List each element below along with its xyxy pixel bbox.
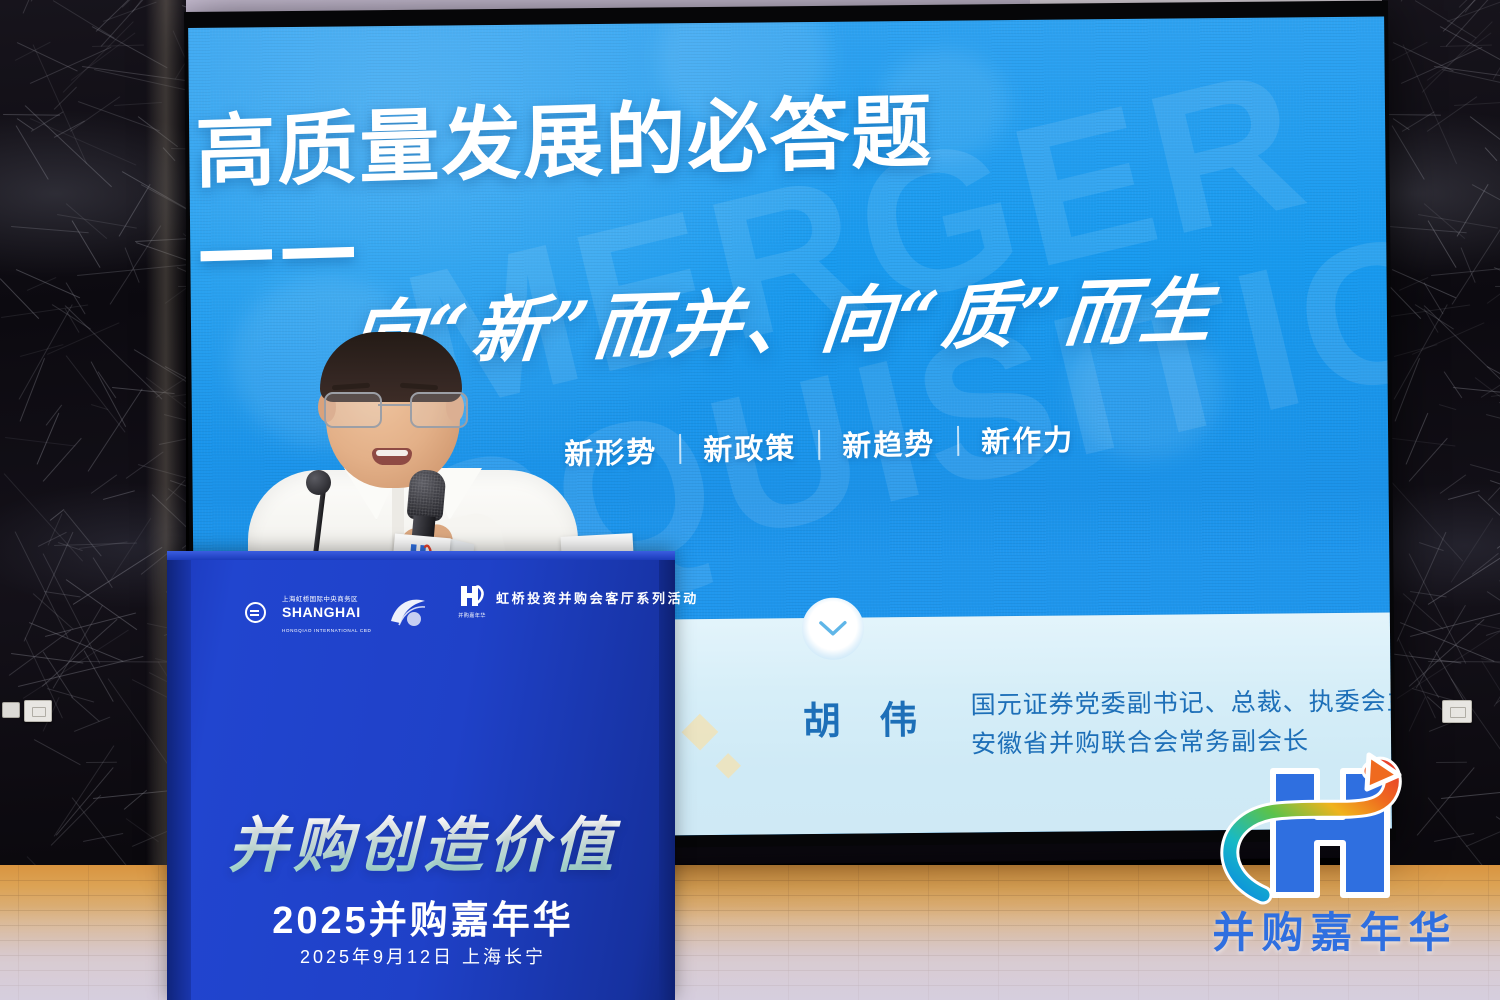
- tag-separator: [679, 434, 681, 464]
- podium-logo-group: 上海虹桥国际中央商务区 SHANGHAI HONGQIAO INTERNATIO…: [245, 589, 429, 636]
- power-outlet-icon: [24, 700, 52, 722]
- marble-wall-left: [0, 0, 186, 880]
- chevron-down-icon: [802, 598, 865, 661]
- podium-date-location: 2025年9月12日 上海长宁: [203, 943, 643, 969]
- microphone-stand-head-icon: [306, 470, 331, 495]
- glasses-lens-right: [410, 392, 468, 428]
- podium-brush-title: 并购创造价值: [203, 797, 643, 884]
- changning-swirl-icon: [387, 595, 429, 629]
- shanghai-cbd-sub: HONGQIAO INTERNATIONAL CBD: [282, 628, 371, 633]
- shanghai-cbd-cn: 上海虹桥国际中央商务区: [282, 596, 358, 603]
- podium: 上海虹桥国际中央商务区 SHANGHAI HONGQIAO INTERNATIO…: [167, 551, 675, 1000]
- podium-side-left: [167, 551, 191, 1000]
- slide-tag-0: 新形势: [564, 429, 657, 474]
- shanghai-cbd-mark-icon: [245, 602, 266, 623]
- tag-separator: [818, 430, 820, 460]
- wall-plate-icon: [2, 702, 20, 718]
- corner-watermark-text: 并购嘉年华: [1185, 899, 1485, 960]
- event-logo-caption: 并购嘉年华: [457, 612, 487, 619]
- podium-side-right: [659, 551, 675, 1000]
- power-outlet-icon: [1442, 700, 1472, 723]
- corner-watermark-logo: 并购嘉年华: [1185, 745, 1485, 960]
- merger-carnival-logo-icon: 并购嘉年华: [457, 582, 487, 612]
- glasses-lens-left: [324, 392, 382, 428]
- event-series-title: 虹桥投资并购会客厅系列活动: [496, 588, 699, 607]
- speaker-name: 胡 伟: [803, 689, 932, 745]
- podium-year-title: 2025并购嘉年华: [203, 889, 643, 944]
- podium-top-edge: [167, 551, 675, 560]
- speaker-title-line-1: 国元证券党委副书记、总裁、执委会主任: [971, 682, 1392, 725]
- decor-diamond: [716, 753, 741, 778]
- glasses-icon: [322, 392, 466, 426]
- slide-tag-3: 新作力: [981, 417, 1074, 462]
- mic-grill: [406, 469, 446, 522]
- shanghai-cbd-en: SHANGHAI: [282, 605, 371, 620]
- mic-capsule: [406, 469, 446, 522]
- shanghai-cbd-logo-text: 上海虹桥国际中央商务区 SHANGHAI HONGQIAO INTERNATIO…: [282, 589, 371, 636]
- event-series-logo-group: 并购嘉年华 虹桥投资并购会客厅系列活动: [457, 582, 699, 612]
- mouth: [372, 448, 412, 465]
- slide-tag-1: 新政策: [703, 425, 796, 470]
- conference-photo-scene: MERGER ACQUISITION 高质量发展的必答题—— 向“新”而并、向“…: [0, 0, 1500, 1000]
- decor-diamond: [682, 714, 719, 751]
- merger-carnival-h-logo-icon: [1185, 745, 1485, 920]
- tag-separator: [957, 426, 959, 456]
- glasses-bridge: [378, 404, 410, 406]
- slide-tag-2: 新趋势: [842, 421, 935, 466]
